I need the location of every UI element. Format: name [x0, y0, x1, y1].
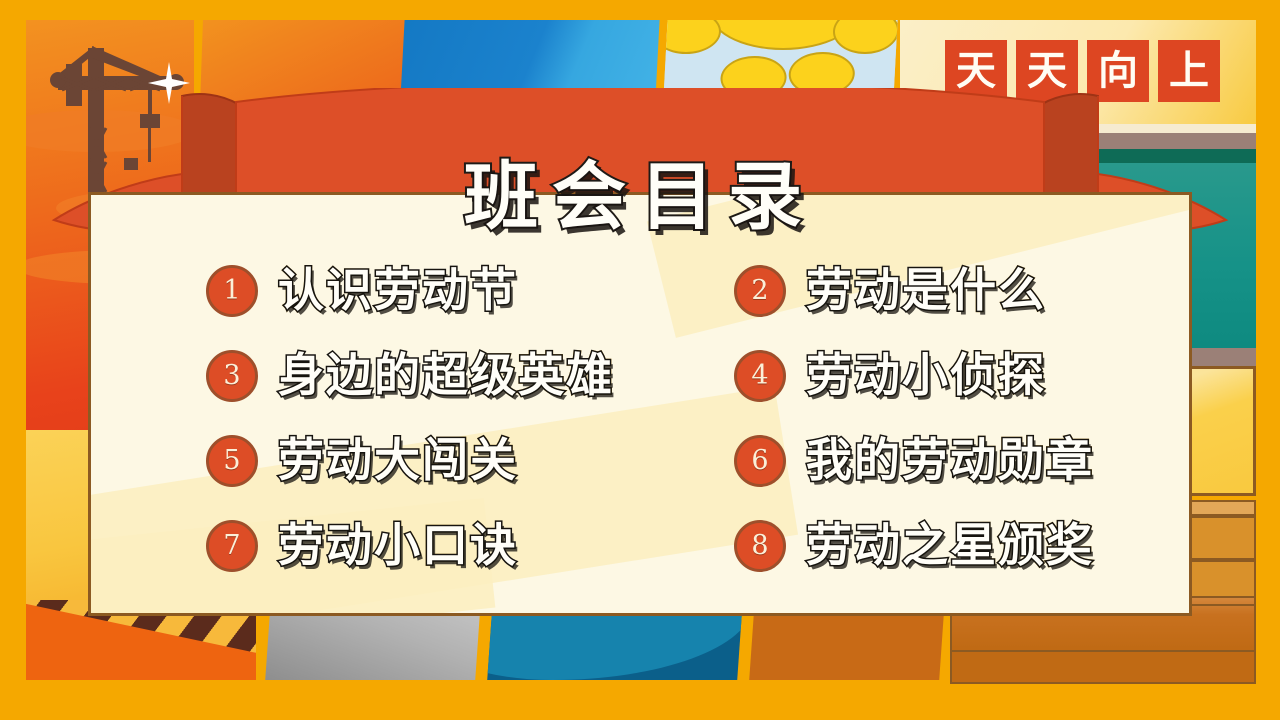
item-label: 身边的超级英雄	[278, 350, 614, 401]
list-item[interactable]: 5 劳动大闯关	[110, 418, 630, 503]
frame-right	[1256, 0, 1280, 720]
item-number-badge: 5	[206, 435, 258, 487]
frame-left	[0, 0, 26, 720]
item-label: 我的劳动勋章	[806, 435, 1094, 486]
list-item[interactable]: 6 我的劳动勋章	[650, 418, 1170, 503]
list-item[interactable]: 1 认识劳动节	[110, 248, 630, 333]
item-label: 认识劳动节	[278, 265, 518, 316]
list-item[interactable]: 8 劳动之星颁奖	[650, 503, 1170, 588]
item-number-badge: 3	[206, 350, 258, 402]
list-item[interactable]: 2 劳动是什么	[650, 248, 1170, 333]
item-number-badge: 4	[734, 350, 786, 402]
page-title: 班会目录	[0, 160, 1280, 234]
list-item[interactable]: 7 劳动小口诀	[110, 503, 630, 588]
item-number-badge: 8	[734, 520, 786, 572]
item-number-badge: 2	[734, 265, 786, 317]
item-number-badge: 7	[206, 520, 258, 572]
item-label: 劳动是什么	[806, 265, 1046, 316]
item-label: 劳动大闯关	[278, 435, 518, 486]
frame-bottom	[0, 694, 1280, 720]
item-label: 劳动小侦探	[806, 350, 1046, 401]
item-label: 劳动之星颁奖	[806, 520, 1094, 571]
item-number-badge: 1	[206, 265, 258, 317]
frame-top	[0, 0, 1280, 20]
contents-list: 1 认识劳动节 2 劳动是什么 3 身边的超级英雄 4 劳动小侦探 5 劳动大闯…	[110, 248, 1170, 598]
list-item[interactable]: 4 劳动小侦探	[650, 333, 1170, 418]
item-number-badge: 6	[734, 435, 786, 487]
list-item[interactable]: 3 身边的超级英雄	[110, 333, 630, 418]
slide-canvas: 天 天 向 上	[0, 0, 1280, 720]
item-label: 劳动小口诀	[278, 520, 518, 571]
